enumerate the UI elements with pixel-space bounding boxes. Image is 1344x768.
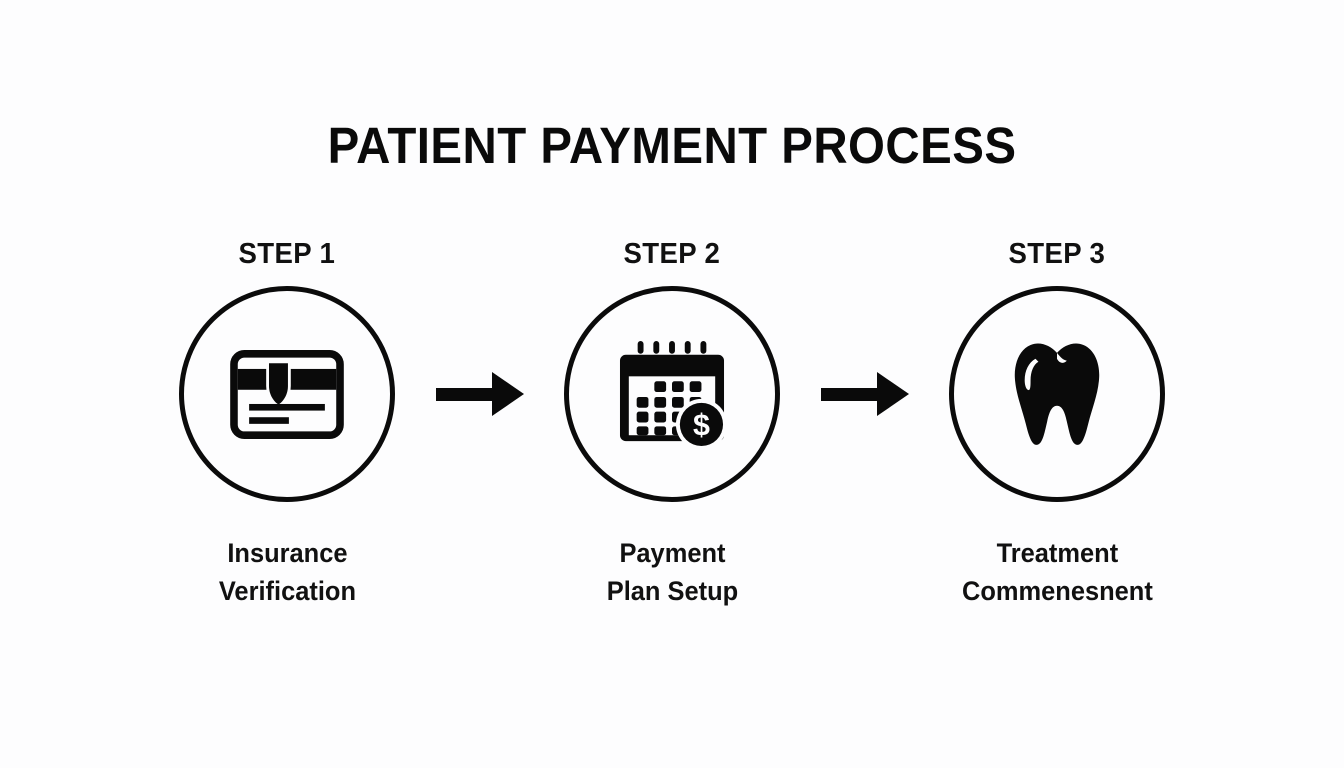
tooth-icon [998, 335, 1116, 453]
step-2-number: STEP 2 [624, 240, 721, 269]
process-step-2: STEP 2 [527, 240, 817, 610]
connector-2 [817, 286, 912, 502]
step-2-label: Payment Plan Setup [606, 535, 737, 610]
patient-payment-process-infographic: PATIENT PAYMENT PROCESS STEP 1 [0, 0, 1344, 768]
step-1-label: Insurance Verification [218, 535, 355, 610]
arrow-shaft [436, 388, 496, 401]
step-3-label-line2: Commenesnent [962, 573, 1153, 611]
step-1-label-line1: Insurance [218, 535, 355, 573]
step-1-label-line2: Verification [218, 573, 355, 611]
connector-1 [432, 286, 527, 502]
arrow-head [877, 372, 909, 416]
step-2-label-line1: Payment [606, 535, 737, 573]
arrow-head [492, 372, 524, 416]
step-3-label-line1: Treatment [962, 535, 1153, 573]
process-step-3: STEP 3 Treatment Commenesnent [912, 240, 1202, 610]
process-step-1: STEP 1 [142, 240, 432, 610]
step-1-number: STEP 1 [239, 240, 336, 269]
calendar-dollar-icon: $ [613, 335, 731, 453]
arrow-right-icon [436, 372, 524, 416]
arrow-right-icon [821, 372, 909, 416]
step-2-label-line2: Plan Setup [606, 573, 737, 611]
process-steps-row: STEP 1 [0, 240, 1344, 610]
svg-text:$: $ [693, 408, 710, 442]
insurance-card-icon [228, 335, 346, 453]
step-1-icon-circle [179, 286, 395, 502]
step-2-icon-circle: $ [564, 286, 780, 502]
page-title: PATIENT PAYMENT PROCESS [47, 118, 1297, 174]
step-3-number: STEP 3 [1009, 240, 1106, 269]
arrow-shaft [821, 388, 881, 401]
step-3-label: Treatment Commenesnent [962, 535, 1153, 610]
step-3-icon-circle [949, 286, 1165, 502]
